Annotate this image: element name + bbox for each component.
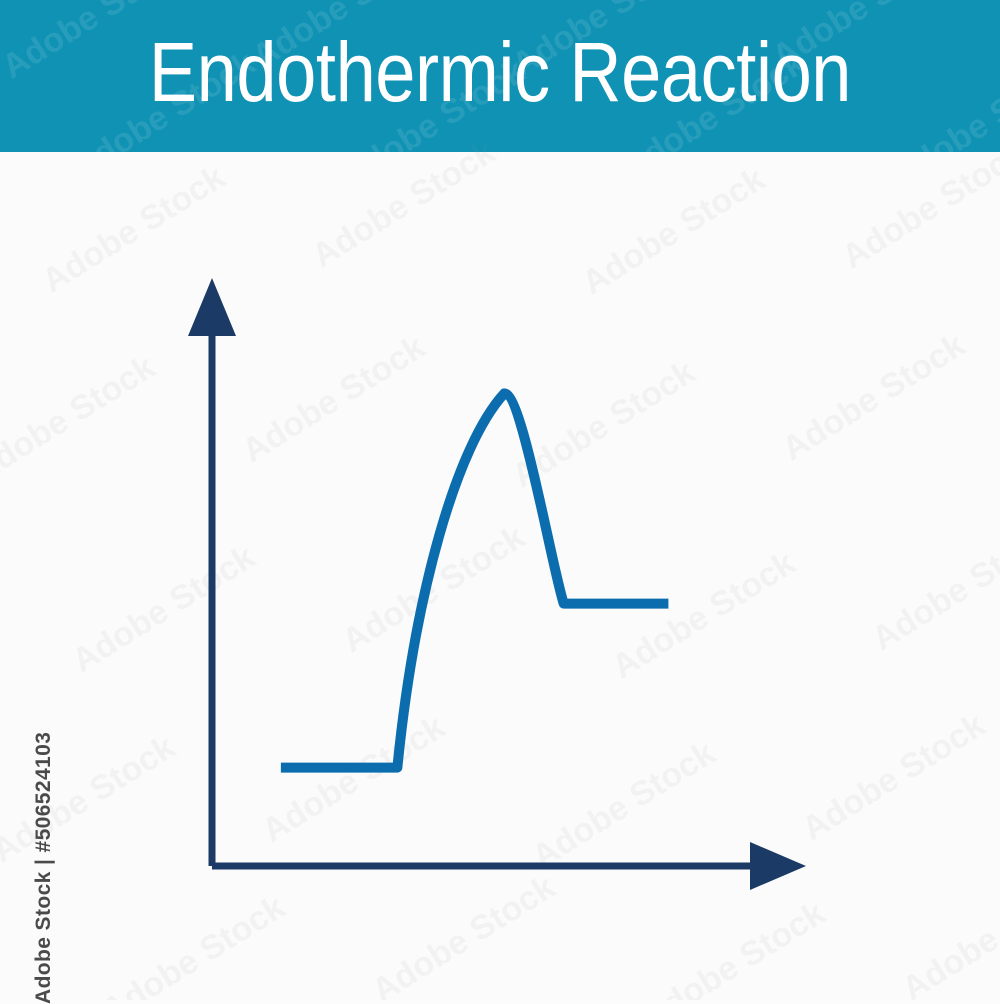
title-banner: Adobe Stock Adobe Stock Adobe Stock Adob… [0,0,1000,152]
y-axis-arrow-icon [188,278,236,336]
stock-credit-label: Adobe Stock | #506524103 [32,744,56,1004]
illustration-canvas: Adobe Stock Adobe Stock Adobe Stock Adob… [0,0,1000,1000]
chart-svg [0,152,1000,1000]
x-axis-arrow-icon [750,842,806,890]
energy-profile-curve [281,393,669,767]
page-title: Endothermic Reaction [70,0,930,152]
energy-profile-chart [0,152,1000,1000]
